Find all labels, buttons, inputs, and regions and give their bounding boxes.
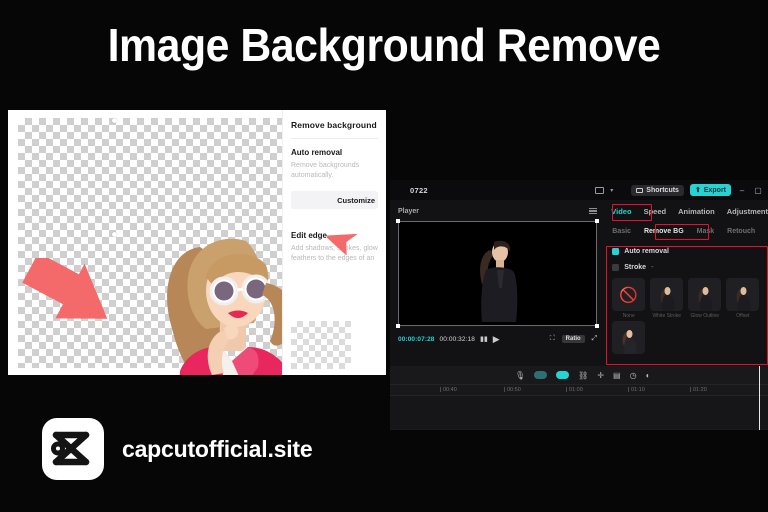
- preset-thumb-image: [658, 286, 675, 311]
- arrow-pointer-icon: [22, 258, 118, 324]
- tab-speed[interactable]: Speed: [644, 207, 667, 216]
- auto-removal-description: Remove backgrounds automatically.: [291, 161, 378, 181]
- canvas-handle[interactable]: [396, 219, 400, 223]
- stroke-preset-captions: None White Stroke Glow Outline Offset: [609, 311, 768, 319]
- crop-tool-icon[interactable]: ▤: [613, 371, 621, 380]
- auto-removal-heading: Auto removal: [291, 148, 378, 157]
- site-url: capcutofficial.site: [122, 436, 312, 463]
- timeline-area: 🎙 ⛓ ✛ ▤ ◷ ◐ 00:40 00:50 01:00 01:10 01:2…: [390, 366, 768, 430]
- player-canvas-wrapper[interactable]: [398, 221, 597, 326]
- timeline-tracks[interactable]: [390, 396, 768, 429]
- panel-title: Remove background: [291, 120, 378, 130]
- fullscreen-icon[interactable]: ⤢: [592, 335, 598, 343]
- divider: [291, 138, 378, 139]
- properties-subtabs: Basic Remove BG Mask Retouch: [609, 223, 768, 239]
- microphone-icon[interactable]: 🎙: [515, 371, 525, 380]
- stroke-preset-item[interactable]: [726, 278, 759, 311]
- customize-label: Customize: [337, 196, 375, 205]
- export-label: Export: [704, 187, 726, 194]
- stroke-checkbox[interactable]: [612, 264, 619, 271]
- total-timecode: 00:00:32:18: [440, 336, 475, 343]
- play-icon[interactable]: ▶: [493, 334, 500, 345]
- project-name: 0722: [410, 186, 428, 195]
- player-transport-bar: 00:00:07:28 00:00:32:18 ▮▮ ▶ ⛶ Ratio ⤢: [398, 330, 597, 348]
- crop-icon[interactable]: ⛶: [550, 335, 555, 343]
- export-button[interactable]: ⬆ Export: [690, 184, 731, 196]
- ruler-tick: 00:50: [504, 387, 521, 393]
- stroke-preset-item[interactable]: [612, 321, 645, 354]
- preset-caption: None: [612, 313, 645, 319]
- stroke-preset-item[interactable]: [650, 278, 683, 311]
- layout-icon[interactable]: [595, 187, 604, 194]
- stroke-row[interactable]: Stroke -: [609, 264, 768, 271]
- stroke-preset-list-row2: [609, 321, 768, 354]
- speed-pill-icon[interactable]: [534, 371, 547, 379]
- preview-subject-image: [464, 236, 532, 324]
- no-stroke-icon: 🚫: [612, 278, 645, 311]
- stroke-preset-item[interactable]: [688, 278, 721, 311]
- auto-removal-checkbox[interactable]: [612, 248, 619, 255]
- cursor-arrow-icon: [327, 225, 361, 255]
- tab-adjustment[interactable]: Adjustment: [727, 207, 768, 216]
- selection-handle[interactable]: [112, 232, 117, 237]
- link-icon[interactable]: ⛓: [578, 371, 588, 380]
- customize-button[interactable]: Customize: [291, 191, 378, 209]
- player-panel: Player: [390, 200, 603, 366]
- preset-thumb-image: [620, 329, 637, 354]
- stroke-preset-list: 🚫: [609, 278, 768, 311]
- subtab-basic[interactable]: Basic: [612, 228, 631, 235]
- ruler-tick: 01:00: [566, 387, 583, 393]
- auto-removal-label: Auto removal: [624, 248, 669, 255]
- hamburger-icon[interactable]: [589, 208, 597, 215]
- tab-animation[interactable]: Animation: [678, 207, 715, 216]
- brand-footer: capcutofficial.site: [42, 418, 312, 480]
- editor-main-area: Player: [390, 200, 768, 366]
- remove-background-panel: Remove background Auto removal Remove ba…: [282, 110, 386, 375]
- current-timecode: 00:00:07:28: [398, 336, 435, 343]
- keyframe-icon[interactable]: ◐: [646, 371, 651, 380]
- ratio-button[interactable]: Ratio: [562, 335, 585, 343]
- slide-canvas: Image Background Remove: [0, 0, 768, 512]
- canvas-handle[interactable]: [595, 324, 599, 328]
- preset-caption: White Stroke: [650, 313, 683, 319]
- selection-handle[interactable]: [112, 118, 117, 123]
- canvas-handle[interactable]: [595, 219, 599, 223]
- auto-removal-row[interactable]: Auto removal: [609, 248, 768, 255]
- stroke-value: -: [651, 264, 653, 271]
- upload-icon: ⬆: [695, 186, 701, 194]
- subtab-mask[interactable]: Mask: [697, 228, 715, 235]
- minimize-button[interactable]: –: [737, 186, 747, 195]
- preset-thumb-image: [734, 286, 751, 311]
- keyboard-icon: [636, 188, 643, 193]
- shortcuts-label: Shortcuts: [646, 187, 679, 194]
- page-title: Image Background Remove: [27, 18, 741, 72]
- frame-step-icon[interactable]: ▮▮: [480, 335, 488, 343]
- maximize-button[interactable]: ▢: [753, 186, 763, 195]
- preset-caption: Offset: [726, 313, 759, 319]
- player-canvas[interactable]: [398, 221, 597, 326]
- subtab-remove-bg[interactable]: Remove BG: [644, 228, 684, 235]
- chevron-down-icon[interactable]: ▾: [610, 187, 613, 194]
- ruler-tick: 01:10: [628, 387, 645, 393]
- ruler-tick: 00:40: [440, 387, 457, 393]
- properties-panel: Video Speed Animation Adjustment Basic R…: [603, 200, 768, 366]
- clock-icon[interactable]: ◷: [630, 371, 637, 380]
- properties-tabs: Video Speed Animation Adjustment: [609, 203, 768, 219]
- preset-caption: Glow Outline: [688, 313, 721, 319]
- stroke-label: Stroke: [624, 264, 646, 271]
- audio-pill-icon[interactable]: [556, 371, 569, 379]
- tab-video[interactable]: Video: [611, 207, 631, 216]
- editor-titlebar: 0722 ▾ Shortcuts ⬆ Export – ▢: [390, 180, 768, 200]
- split-icon[interactable]: ✛: [597, 371, 604, 380]
- playhead[interactable]: [759, 366, 760, 430]
- timeline-ruler[interactable]: 00:40 00:50 01:00 01:10 01:20: [390, 384, 768, 396]
- shortcuts-button[interactable]: Shortcuts: [631, 185, 684, 196]
- stroke-preset-none[interactable]: 🚫: [612, 278, 645, 311]
- player-label: Player: [398, 208, 419, 215]
- panel-checkerboard-preview: [291, 321, 351, 369]
- capcut-logo-icon: [42, 418, 104, 480]
- left-screenshot-card: Remove background Auto removal Remove ba…: [8, 110, 386, 375]
- subtab-retouch[interactable]: Retouch: [727, 228, 755, 235]
- timeline-toolbar: 🎙 ⛓ ✛ ▤ ◷ ◐: [390, 366, 768, 384]
- ruler-tick: 01:20: [690, 387, 707, 393]
- capcut-editor-window: 0722 ▾ Shortcuts ⬆ Export – ▢: [390, 180, 768, 430]
- canvas-handle[interactable]: [396, 324, 400, 328]
- preset-thumb-image: [696, 286, 713, 311]
